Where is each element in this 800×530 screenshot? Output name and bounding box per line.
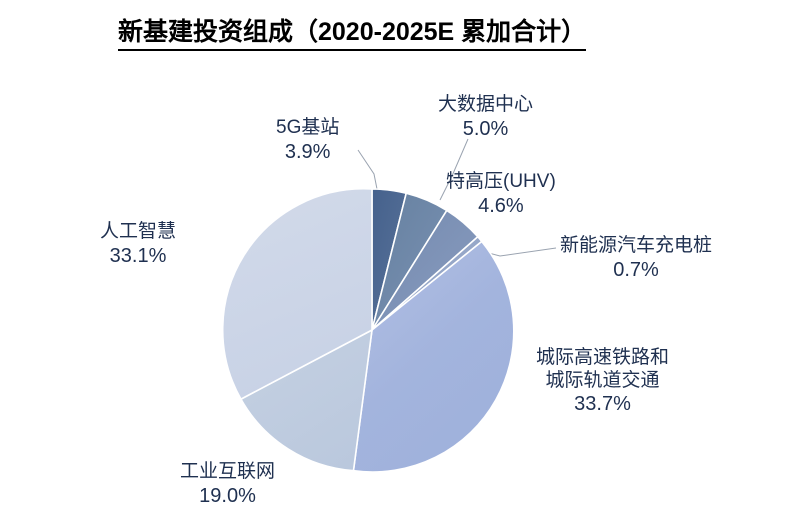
pie-chart-figure: 新基建投资组成（2020-2025E 累加合计） [0,0,800,530]
pie-label-industrial-value: 19.0% [180,484,275,509]
pie-label-uhv-value: 4.6% [446,194,556,219]
pie-label-5g-name: 5G基站 [276,116,339,140]
pie-label-ev: 新能源汽车充电桩 0.7% [560,234,712,283]
pie-label-uhv-name: 特高压(UHV) [446,170,556,194]
pie-label-rail-name-line2: 城际轨道交通 [536,369,669,392]
pie-label-uhv: 特高压(UHV) 4.6% [446,170,556,219]
pie-label-5g-value: 3.9% [276,140,339,165]
pie-label-rail-name-line1: 城际高速铁路和 [536,346,669,369]
pie-label-rail-value: 33.7% [536,392,669,417]
pie-label-5g: 5G基站 3.9% [276,116,339,165]
pie-label-bigdata: 大数据中心 5.0% [438,93,533,142]
pie-label-industrial-name: 工业互联网 [180,460,275,484]
pie-slices [223,189,514,472]
pie-label-bigdata-value: 5.0% [438,117,533,142]
pie-label-ev-name: 新能源汽车充电桩 [560,234,712,258]
pie-label-rail: 城际高速铁路和 城际轨道交通 33.7% [536,346,669,418]
pie-label-ai-value: 33.1% [100,244,176,269]
pie-label-industrial: 工业互联网 19.0% [180,460,275,509]
pie-label-ai-name: 人工智慧 [100,220,176,244]
pie-label-ai: 人工智慧 33.1% [100,220,176,269]
pie-label-ev-value: 0.7% [560,258,712,283]
leader-line-5g [358,150,378,194]
pie-label-bigdata-name: 大数据中心 [438,93,533,117]
